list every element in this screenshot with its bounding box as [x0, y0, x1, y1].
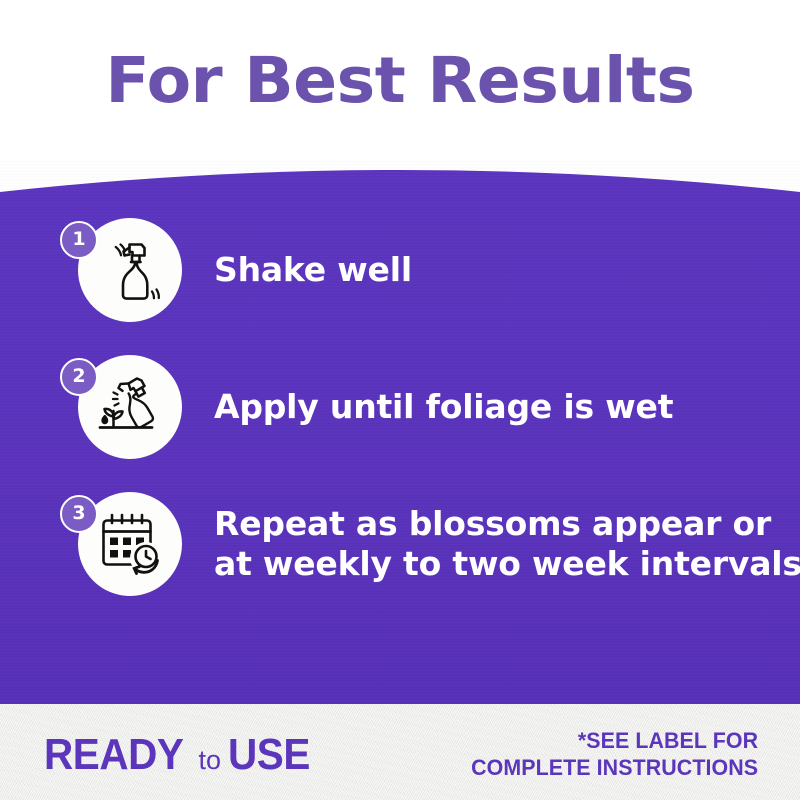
steps-list: 1 Shake well: [0, 215, 800, 599]
step-3-number: 3: [72, 504, 85, 523]
step-2-line-1: Apply until foliage is wet: [214, 387, 673, 427]
disclaimer-line-2: COMPLETE INSTRUCTIONS: [471, 755, 758, 782]
step-1-number: 1: [72, 230, 85, 249]
step-1-line-1: Shake well: [214, 250, 412, 290]
footer-bar: READY to USE *SEE LABEL FOR COMPLETE INS…: [0, 704, 800, 800]
step-1-text: Shake well: [214, 250, 412, 290]
step-1-icon-wrap: 1: [78, 218, 182, 322]
step-3-line-2: at weekly to two week intervals: [214, 544, 800, 584]
ready-to-use-logo: READY to USE: [44, 733, 317, 777]
page-title: For Best Results: [105, 49, 694, 112]
step-3-line-1: Repeat as blossoms appear or: [214, 504, 800, 544]
see-label-disclaimer: *SEE LABEL FOR COMPLETE INSTRUCTIONS: [456, 728, 758, 781]
title-zone: For Best Results: [0, 0, 800, 160]
step-3-text: Repeat as blossoms appear or at weekly t…: [214, 504, 800, 585]
step-2-icon-wrap: 2: [78, 355, 182, 459]
step-3-icon-wrap: 3: [78, 492, 182, 596]
step-item-1: 1 Shake well: [0, 215, 800, 325]
step-item-2: 2 Apply until foliage is wet: [0, 352, 800, 462]
step-3-badge: 3: [60, 495, 98, 533]
step-2-badge: 2: [60, 358, 98, 396]
to-word: to: [199, 747, 222, 774]
ready-word: READY: [44, 733, 183, 777]
step-1-badge: 1: [60, 221, 98, 259]
use-word: USE: [228, 733, 310, 777]
poster: For Best Results: [0, 0, 800, 800]
step-2-text: Apply until foliage is wet: [214, 387, 673, 427]
step-item-3: 3 Repeat as blossoms appear or at weekly…: [0, 489, 800, 599]
disclaimer-line-1: *SEE LABEL FOR: [471, 728, 758, 755]
step-2-number: 2: [72, 367, 85, 386]
